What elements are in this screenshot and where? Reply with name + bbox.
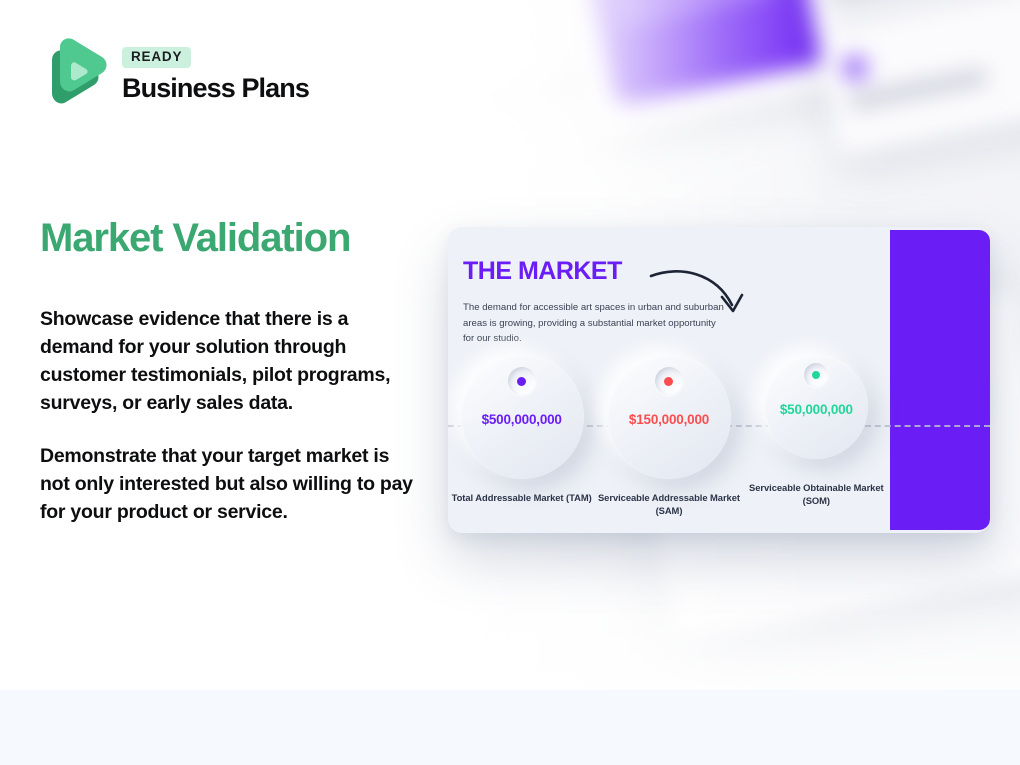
market-slide-preview-card[interactable]: THE MARKET The demand for accessible art… xyxy=(448,227,990,533)
market-metrics-group: $500,000,000 Total Addressable Market (T… xyxy=(448,355,890,533)
metric-value-som: $50,000,000 xyxy=(780,402,853,417)
metric-value-tam: $500,000,000 xyxy=(482,412,562,427)
metric-knob-sam xyxy=(655,367,683,395)
metric-dot-sam xyxy=(664,377,673,386)
play-triangle-logo-icon xyxy=(40,38,108,110)
curved-down-arrow-icon xyxy=(648,267,758,323)
metric-som[interactable]: $50,000,000 Serviceable Obtainable Marke… xyxy=(743,355,889,508)
card-heading: THE MARKET xyxy=(463,259,622,284)
metric-tam[interactable]: $500,000,000 Total Addressable Market (T… xyxy=(449,355,595,504)
left-column: READY Business Plans Market Validation S… xyxy=(0,0,440,690)
metric-circle-som: $50,000,000 xyxy=(764,355,868,459)
metric-label-sam: Serviceable Addressable Market (SAM) xyxy=(596,491,742,518)
metric-knob-tam xyxy=(508,367,536,395)
slide-root: READY Business Plans Market Validation S… xyxy=(0,0,1020,765)
metric-label-tam: Total Addressable Market (TAM) xyxy=(452,491,592,504)
metric-circle-sam: $150,000,000 xyxy=(607,355,731,479)
background-bottom-fade xyxy=(435,540,1020,690)
body-copy: Showcase evidence that there is a demand… xyxy=(40,305,422,527)
metric-dot-som xyxy=(812,371,820,379)
metric-dot-tam xyxy=(517,377,526,386)
ready-badge: READY xyxy=(122,47,191,68)
metric-value-sam: $150,000,000 xyxy=(629,412,709,427)
brand-lockup: READY Business Plans xyxy=(40,38,309,110)
metric-label-som: Serviceable Obtainable Market (SOM) xyxy=(743,481,889,508)
brand-name: Business Plans xyxy=(122,74,309,103)
metric-sam[interactable]: $150,000,000 Serviceable Addressable Mar… xyxy=(596,355,742,518)
brand-text-block: READY Business Plans xyxy=(122,45,309,103)
metric-circle-tam: $500,000,000 xyxy=(460,355,584,479)
metric-knob-som xyxy=(804,363,828,387)
page-title: Market Validation xyxy=(40,216,350,260)
bottom-strip xyxy=(0,690,1020,765)
body-paragraph-2: Demonstrate that your target market is n… xyxy=(40,442,422,526)
card-purple-accent-block xyxy=(890,230,990,530)
body-paragraph-1: Showcase evidence that there is a demand… xyxy=(40,305,422,417)
